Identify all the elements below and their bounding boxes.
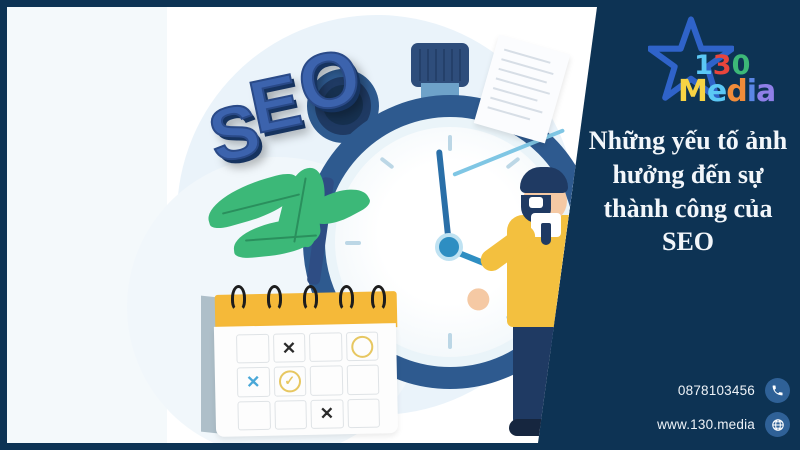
calendar-cell: ✕ [237, 367, 270, 397]
globe-icon[interactable] [765, 412, 790, 437]
calendar-illustration: ✕ ✕ ✕ [215, 269, 397, 437]
logo-char: a [756, 74, 775, 109]
stopwatch-hub [435, 233, 463, 261]
calendar-cell [310, 366, 343, 396]
website-url: www.130.media [657, 417, 755, 432]
phone-icon[interactable] [765, 378, 790, 403]
logo-char: M [678, 74, 707, 109]
man-hair [520, 167, 568, 193]
calendar-ring [339, 285, 354, 311]
contact-info: 0878103456 www.130.media [600, 378, 790, 446]
illustration-panel: S E O ✕ [7, 7, 597, 443]
logo-char: i [747, 74, 756, 109]
brand-logo[interactable]: 130 Media [648, 16, 788, 112]
contact-phone-row[interactable]: 0878103456 [600, 378, 790, 403]
calendar-grid: ✕ ✕ ✕ [236, 332, 380, 431]
calendar-cell [274, 400, 307, 430]
calendar-ring [303, 285, 318, 311]
seo-banner: S E O ✕ [0, 0, 800, 450]
page-title: Những yếu tố ảnh hưởng đến sự thành công… [582, 124, 794, 259]
calendar-ring [267, 285, 282, 311]
logo-text-media: Media [678, 74, 775, 109]
man-mouth [529, 197, 543, 208]
calendar-cell [347, 398, 380, 428]
calendar-cell [273, 366, 306, 396]
calendar-cell [236, 334, 269, 364]
calendar-ring [371, 285, 386, 311]
calendar-ring [231, 285, 246, 311]
calendar-cell: ✕ [273, 333, 306, 363]
contact-website-row[interactable]: www.130.media [600, 412, 790, 437]
seo-letter-o: O [290, 30, 366, 131]
man-tie [541, 223, 551, 245]
calendar-cell [345, 332, 378, 362]
man-shoe [509, 419, 561, 436]
calendar-cell [309, 332, 342, 362]
calendar-cell: ✕ [310, 399, 343, 429]
logo-char: d [726, 74, 746, 109]
man-legs [513, 319, 575, 427]
man-pushing-clock-hand [487, 167, 597, 442]
logo-char: e [707, 74, 726, 109]
left-background-wash [7, 7, 167, 443]
calendar-cell [237, 400, 270, 430]
phone-number: 0878103456 [678, 383, 755, 398]
calendar-cell [346, 365, 379, 395]
